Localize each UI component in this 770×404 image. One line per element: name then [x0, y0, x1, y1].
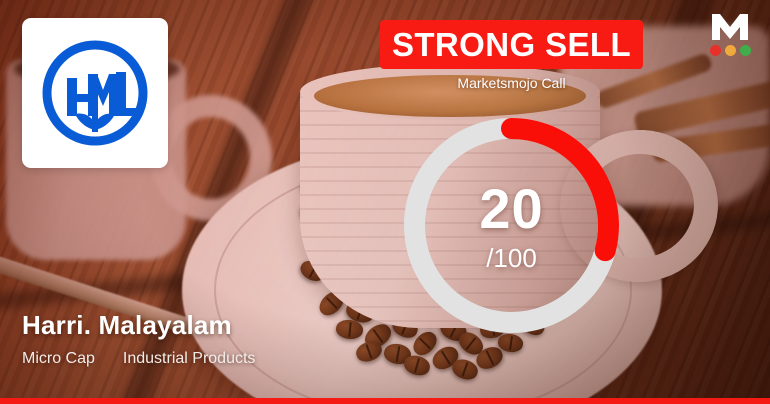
company-info: Harri. Malayalam Micro Cap Industrial Pr… [22, 310, 255, 368]
accent-strip [0, 398, 770, 404]
green-dot [740, 45, 751, 56]
call-block: STRONG SELL Marketsmojo Call [380, 20, 643, 91]
score-gauge: 20 /100 [403, 117, 620, 334]
moneycontrol-m-icon [710, 12, 750, 42]
company-meta: Micro Cap Industrial Products [22, 350, 255, 368]
red-dot [710, 45, 721, 56]
stock-call-card: STRONG SELL Marketsmojo Call 20 /100 Har… [0, 0, 770, 404]
call-badge: STRONG SELL [380, 20, 643, 69]
company-name: Harri. Malayalam [22, 310, 255, 341]
market-cap-label: Micro Cap [22, 350, 95, 368]
call-subtitle: Marketsmojo Call [380, 75, 643, 91]
company-logo-mark [36, 34, 154, 152]
amber-dot [725, 45, 736, 56]
company-logo-card [22, 18, 168, 168]
moneycontrol-dots [710, 45, 751, 56]
moneycontrol-logo [704, 12, 756, 56]
sector-label: Industrial Products [123, 350, 256, 368]
